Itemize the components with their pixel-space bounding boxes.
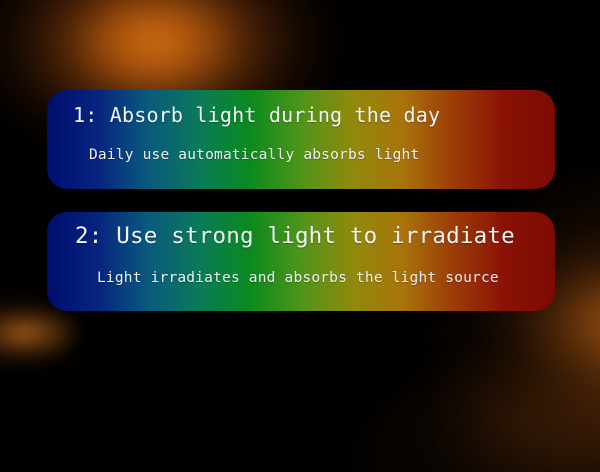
step-card-2-subtitle: Light irradiates and absorbs the light s… bbox=[97, 270, 499, 286]
app-canvas: 1: Absorb light during the day Daily use… bbox=[0, 0, 600, 472]
step-card-1-title: 1: Absorb light during the day bbox=[73, 103, 440, 127]
step-card-2-title: 2: Use strong light to irradiate bbox=[75, 223, 515, 249]
step-card-2[interactable]: 2: Use strong light to irradiate Light i… bbox=[47, 212, 555, 311]
bottom-right-dim-glow bbox=[352, 372, 600, 472]
step-card-1[interactable]: 1: Absorb light during the day Daily use… bbox=[47, 90, 555, 189]
step-card-1-subtitle: Daily use automatically absorbs light bbox=[89, 147, 419, 163]
